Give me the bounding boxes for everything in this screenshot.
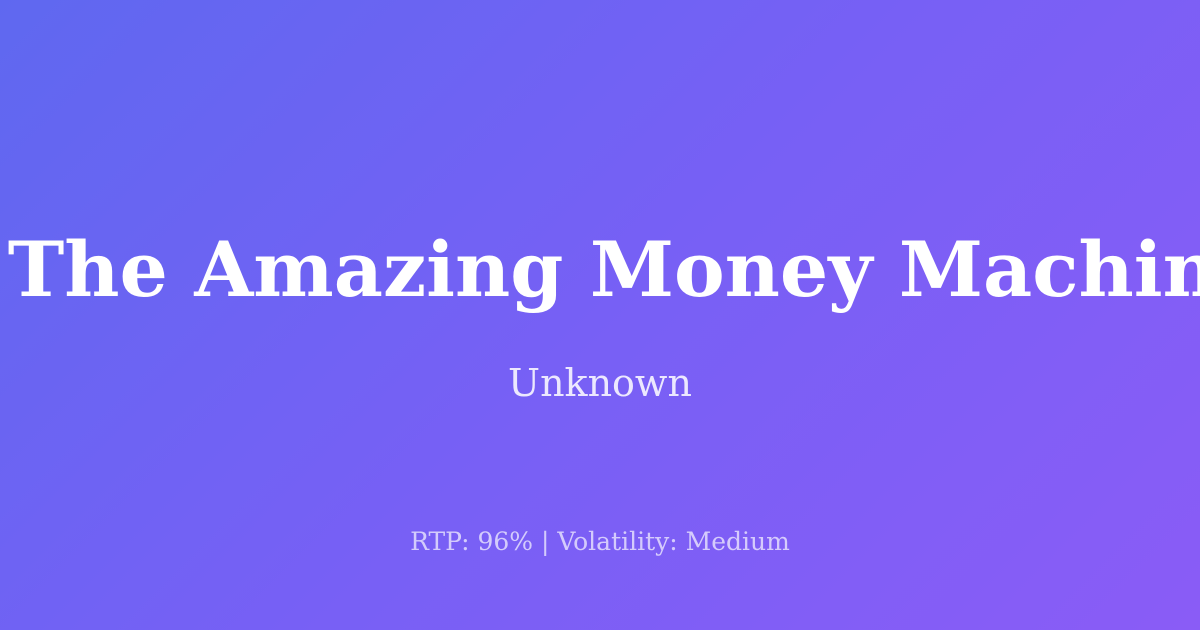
stats-line: RTP: 96% | Volatility: Medium	[0, 528, 1200, 556]
og-share-card: 1 F 3 0 The Amazing Money Machine Unknow…	[0, 0, 1200, 630]
page-title: The Amazing Money Machine	[8, 232, 1200, 308]
title-row: 1 F 3 0 The Amazing Money Machine	[0, 232, 1200, 308]
subtitle: Unknown	[0, 364, 1200, 402]
